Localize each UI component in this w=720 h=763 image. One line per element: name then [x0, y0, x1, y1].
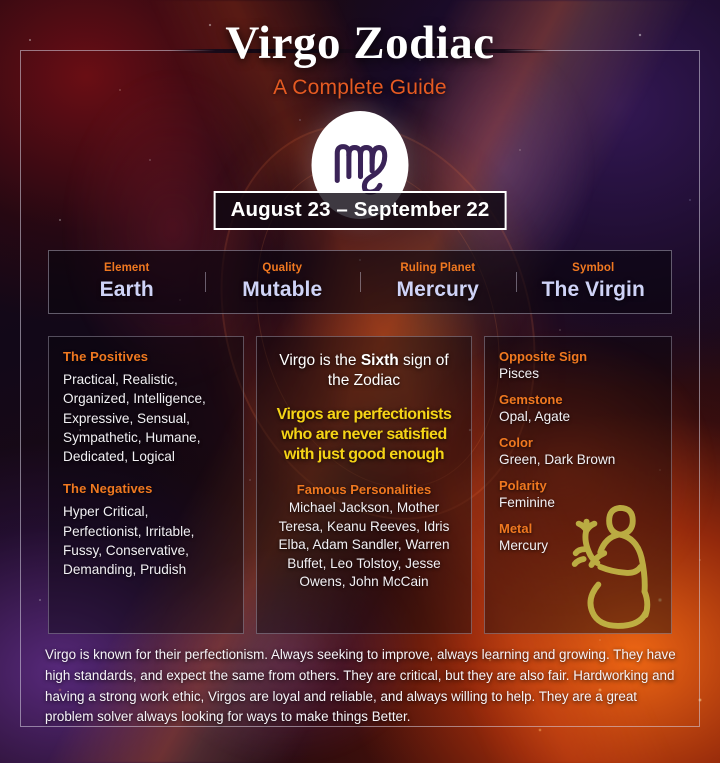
- fact-label: Polarity: [499, 478, 657, 493]
- famous-text: Michael Jackson, Mother Teresa, Keanu Re…: [269, 499, 459, 591]
- page-title: Virgo Zodiac: [0, 20, 720, 67]
- overview-panel: Virgo is the Sixth sign of the Zodiac Vi…: [256, 336, 472, 634]
- virgo-zodiac-infographic: Virgo Zodiac A Complete Guide August 23 …: [0, 0, 720, 763]
- traits-panel: The Positives Practical, Realistic, Orga…: [48, 336, 244, 634]
- fact-metal: Metal Mercury: [499, 521, 657, 553]
- attribute-value: Mercury: [364, 278, 512, 302]
- attribute-ruling-planet: Ruling Planet Mercury: [360, 262, 516, 302]
- fact-value: Feminine: [499, 495, 657, 510]
- negatives-heading: The Negatives: [63, 481, 229, 496]
- content-panels: The Positives Practical, Realistic, Orga…: [48, 336, 672, 634]
- fact-value: Opal, Agate: [499, 409, 657, 424]
- fact-label: Opposite Sign: [499, 349, 657, 364]
- attribute-label: Symbol: [520, 262, 668, 275]
- attribute-label: Ruling Planet: [364, 262, 512, 275]
- attribute-value: The Virgin: [520, 278, 668, 302]
- attribute-value: Earth: [53, 278, 201, 302]
- virgo-glyph-icon: [329, 134, 391, 196]
- fact-value: Green, Dark Brown: [499, 452, 657, 467]
- positives-text: Practical, Realistic, Organized, Intelli…: [63, 370, 229, 466]
- header: Virgo Zodiac A Complete Guide: [0, 0, 720, 100]
- fact-value: Mercury: [499, 538, 657, 553]
- intro-before: Virgo is the: [279, 352, 361, 369]
- summary-paragraph: Virgo is known for their perfectionism. …: [45, 645, 681, 728]
- facts-panel: Opposite Sign Pisces Gemstone Opal, Agat…: [484, 336, 672, 634]
- famous-heading: Famous Personalities: [269, 482, 459, 497]
- attribute-label: Element: [53, 262, 201, 275]
- fact-color: Color Green, Dark Brown: [499, 435, 657, 467]
- positives-heading: The Positives: [63, 349, 229, 364]
- attribute-value: Mutable: [209, 278, 357, 302]
- page-subtitle: A Complete Guide: [0, 76, 720, 100]
- fact-label: Color: [499, 435, 657, 450]
- attribute-symbol: Symbol The Virgin: [516, 262, 672, 302]
- negatives-text: Hyper Critical, Perfectionist, Irritable…: [63, 502, 229, 579]
- highlight-quote: Virgos are perfectionists who are never …: [269, 405, 459, 465]
- attribute-quality: Quality Mutable: [205, 262, 361, 302]
- fact-gemstone: Gemstone Opal, Agate: [499, 392, 657, 424]
- date-range-banner: August 23 – September 22: [214, 191, 507, 230]
- fact-opposite-sign: Opposite Sign Pisces: [499, 349, 657, 381]
- fact-label: Gemstone: [499, 392, 657, 407]
- zodiac-order-statement: Virgo is the Sixth sign of the Zodiac: [269, 351, 459, 391]
- attribute-element: Element Earth: [49, 262, 205, 302]
- fact-polarity: Polarity Feminine: [499, 478, 657, 510]
- attributes-bar: Element Earth Quality Mutable Ruling Pla…: [48, 250, 672, 314]
- fact-label: Metal: [499, 521, 657, 536]
- intro-ordinal: Sixth: [361, 352, 399, 369]
- attribute-label: Quality: [209, 262, 357, 275]
- fact-value: Pisces: [499, 366, 657, 381]
